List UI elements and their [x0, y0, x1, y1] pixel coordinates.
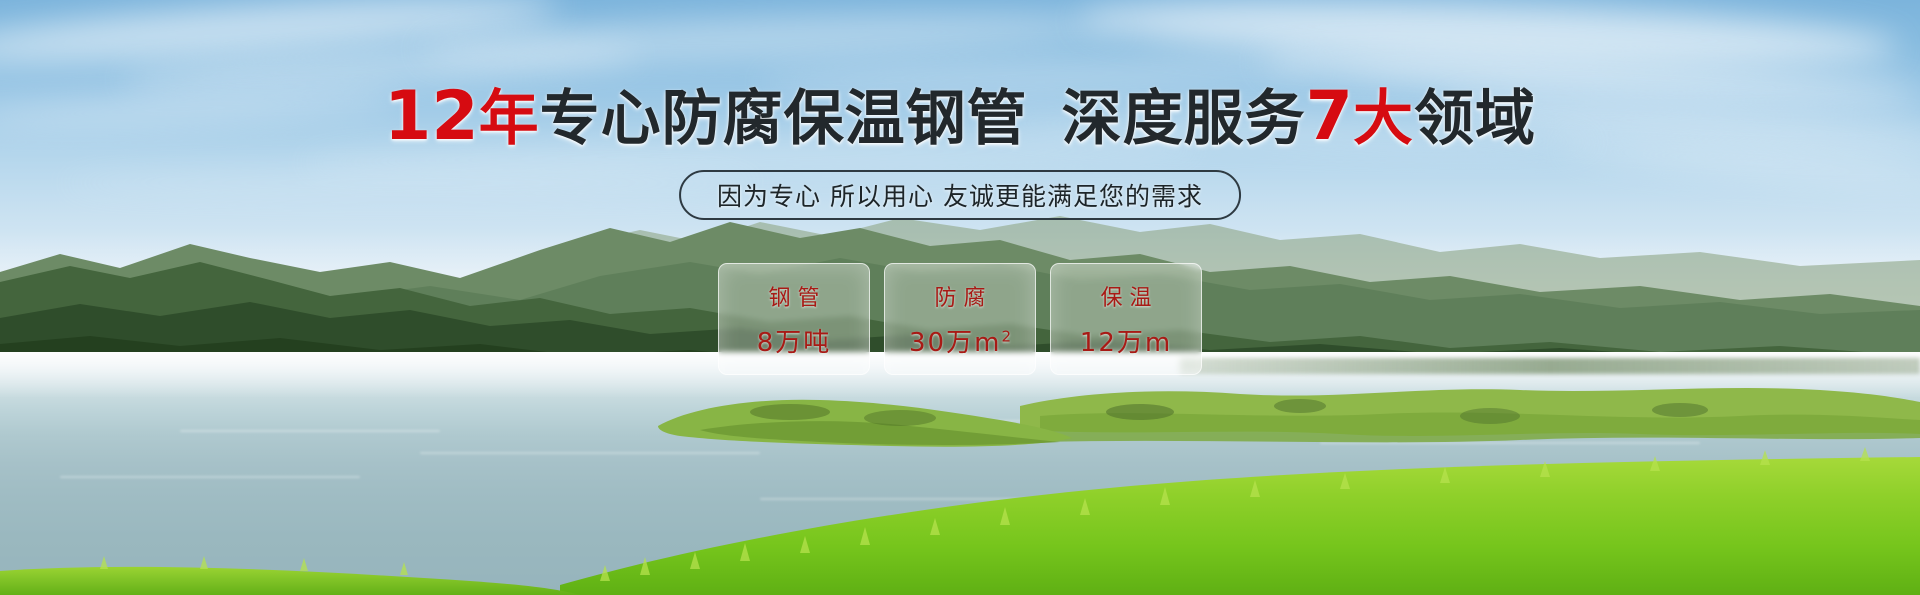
- stat-card-value-sup: 2: [1001, 327, 1011, 345]
- page-title: 12年专心防腐保温钢管深度服务7大领域: [0, 84, 1920, 152]
- stat-card-title: 钢管: [761, 280, 826, 312]
- headline-years-unit: 年: [479, 84, 540, 154]
- stat-card-steel-pipe[interactable]: 钢管 8万吨: [718, 263, 870, 375]
- stat-card-value: 8万吨: [757, 322, 832, 359]
- stat-card-anticorrosion[interactable]: 防腐 30万m2: [884, 263, 1036, 375]
- headline-service-text: 深度服务: [1062, 84, 1306, 154]
- stat-card-title: 防腐: [927, 280, 992, 312]
- grass-foreground: [0, 395, 1920, 595]
- stat-card-title: 保温: [1093, 280, 1158, 312]
- stat-card-insulation[interactable]: 保温 12万m: [1050, 263, 1202, 375]
- headline-fields-unit: 大: [1353, 84, 1414, 154]
- promo-banner: 12年专心防腐保温钢管深度服务7大领域 因为专心 所以用心 友诚更能满足您的需求…: [0, 0, 1920, 595]
- subtitle-text: 因为专心 所以用心 友诚更能满足您的需求: [717, 177, 1203, 213]
- stat-card-value: 12万m: [1080, 322, 1172, 359]
- subtitle-pill: 因为专心 所以用心 友诚更能满足您的需求: [679, 170, 1241, 220]
- headline-fields-number: 7: [1306, 77, 1353, 156]
- stat-card-value-text: 30万m: [909, 328, 1001, 358]
- headline-main-text: 专心防腐保温钢管: [540, 84, 1028, 154]
- stat-card-value: 30万m2: [909, 322, 1011, 359]
- cloud-wisp: [60, 172, 760, 194]
- stat-card-value-text: 8万吨: [757, 328, 832, 358]
- stat-card-value-text: 12万m: [1080, 328, 1172, 358]
- stat-card-group: 钢管 8万吨 防腐 30万m2 保温 12万m: [718, 263, 1202, 375]
- headline-fields-text: 领域: [1414, 84, 1536, 154]
- headline-years-number: 12: [384, 77, 479, 156]
